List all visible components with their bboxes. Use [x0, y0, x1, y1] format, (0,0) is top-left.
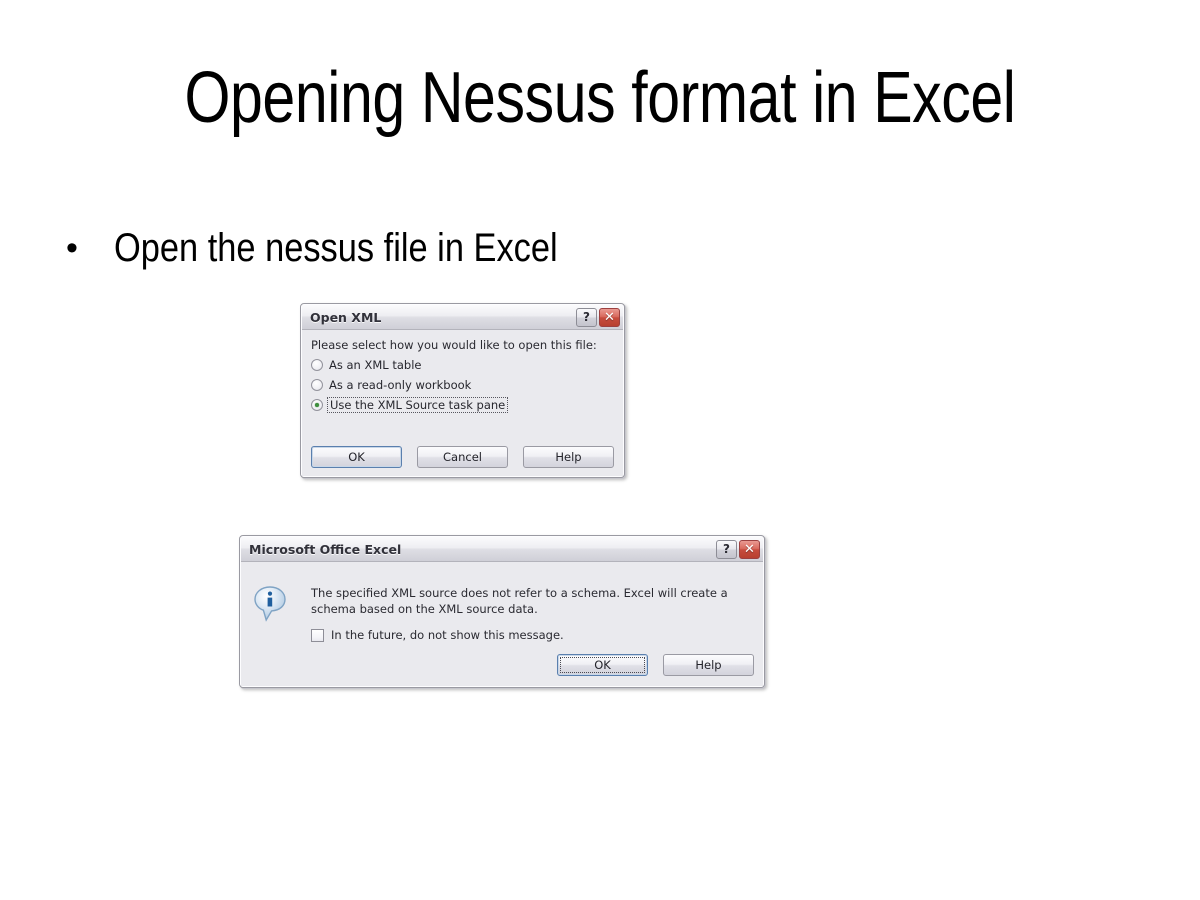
bullet-list-item: • Open the nessus file in Excel	[62, 222, 630, 274]
excel-info-button-row: OK Help	[557, 654, 754, 676]
suppress-message-checkbox-row[interactable]: In the future, do not show this message.	[311, 628, 754, 644]
cancel-button[interactable]: Cancel	[417, 446, 508, 468]
page-title: Opening Nessus format in Excel	[108, 62, 1092, 134]
excel-info-title: Microsoft Office Excel	[249, 542, 716, 557]
suppress-message-checkbox-label: In the future, do not show this message.	[331, 628, 564, 644]
bullet-marker: •	[62, 222, 114, 274]
open-xml-title: Open XML	[310, 310, 576, 325]
radio-option-label: As a read-only workbook	[329, 378, 471, 392]
ok-button[interactable]: OK	[311, 446, 402, 468]
excel-info-dialog-frame: Microsoft Office Excel ? ✕	[240, 536, 764, 687]
checkbox-icon[interactable]	[311, 629, 324, 642]
radio-option-label: Use the XML Source task pane	[327, 397, 508, 413]
open-xml-titlebar-buttons: ? ✕	[576, 308, 620, 327]
excel-info-message: The specified XML source does not refer …	[311, 586, 749, 617]
help-icon[interactable]: ?	[716, 540, 737, 559]
bullet-item-label: Open the nessus file in Excel	[114, 222, 558, 274]
close-icon[interactable]: ✕	[739, 540, 760, 559]
excel-info-dialog[interactable]: Microsoft Office Excel ? ✕	[239, 535, 765, 688]
open-xml-prompt: Please select how you would like to open…	[311, 338, 614, 354]
radio-icon[interactable]	[311, 379, 323, 391]
radio-option-xml-table[interactable]: As an XML table	[311, 357, 614, 374]
excel-info-titlebar-buttons: ? ✕	[716, 540, 760, 559]
radio-option-label: As an XML table	[329, 358, 422, 372]
radio-option-xml-source-task-pane[interactable]: Use the XML Source task pane	[311, 397, 614, 414]
open-xml-titlebar[interactable]: Open XML ? ✕	[302, 305, 623, 330]
open-xml-dialog-frame: Open XML ? ✕ Please select how you would…	[301, 304, 624, 477]
radio-icon-selected[interactable]	[311, 399, 323, 411]
help-icon[interactable]: ?	[576, 308, 597, 327]
info-icon	[254, 586, 288, 622]
radio-option-read-only-workbook[interactable]: As a read-only workbook	[311, 377, 614, 394]
slide: Opening Nessus format in Excel • Open th…	[0, 0, 1200, 900]
excel-info-titlebar[interactable]: Microsoft Office Excel ? ✕	[241, 537, 763, 562]
open-xml-dialog[interactable]: Open XML ? ✕ Please select how you would…	[300, 303, 625, 478]
radio-icon[interactable]	[311, 359, 323, 371]
close-icon[interactable]: ✕	[599, 308, 620, 327]
open-xml-body: Please select how you would like to open…	[302, 330, 623, 476]
help-button[interactable]: Help	[523, 446, 614, 468]
open-xml-button-row: OK Cancel Help	[311, 446, 614, 468]
ok-button[interactable]: OK	[557, 654, 648, 676]
help-button[interactable]: Help	[663, 654, 754, 676]
excel-info-body: The specified XML source does not refer …	[241, 562, 763, 686]
